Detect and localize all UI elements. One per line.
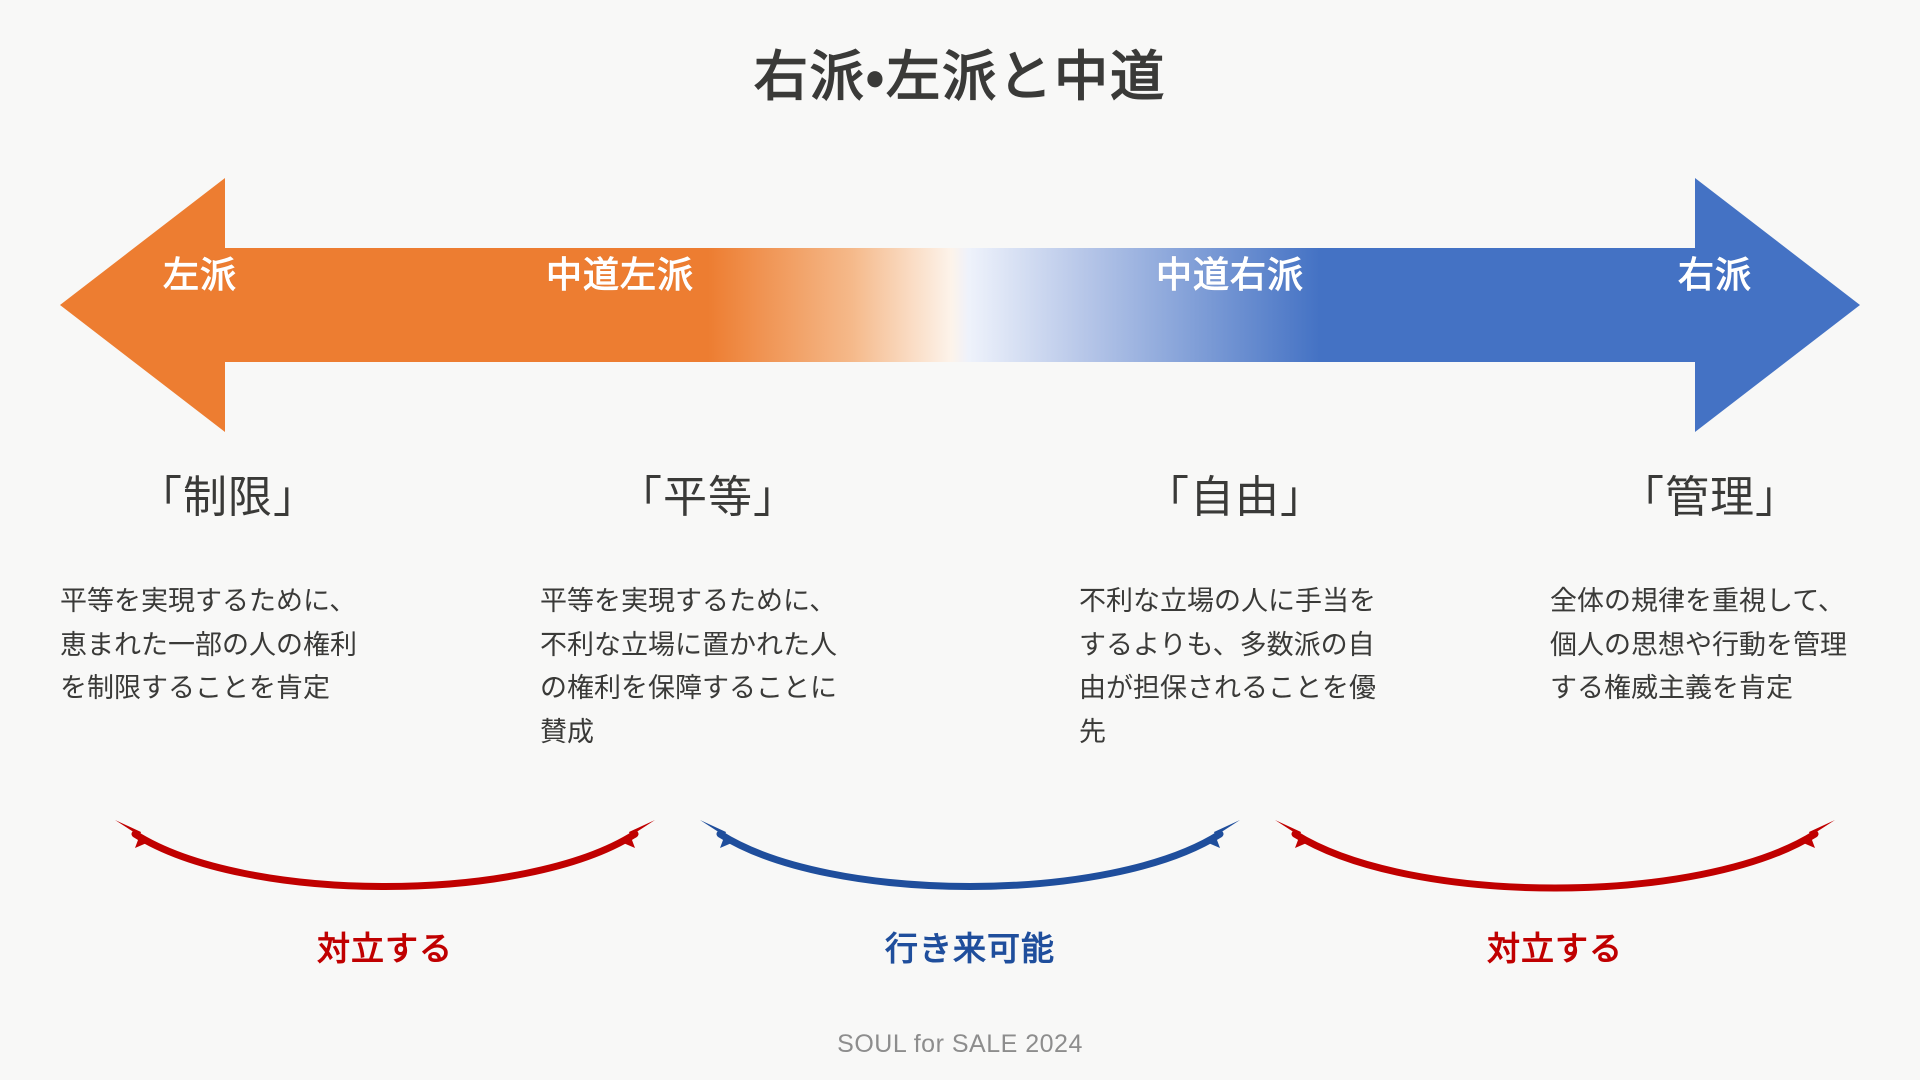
relation-label: 対立する: [1255, 922, 1855, 970]
column-body: 全体の規律を重視して、個人の思想や行動を管理する権威主義を肯定: [1550, 580, 1862, 711]
relation-flow-middle: 行き来可能: [680, 812, 1260, 1002]
political-spectrum-arrow: 左派 中道左派 中道右派 右派: [60, 170, 1860, 440]
relation-oppose-right: 対立する: [1255, 812, 1855, 1002]
page-title: 右派・左派と中道: [0, 46, 1920, 108]
relation-oppose-left: 対立する: [95, 812, 675, 1002]
footer-credit: SOUL for SALE 2024: [0, 1030, 1920, 1059]
relation-arrows: 対立する 行き来可能 対立する: [0, 812, 1920, 1002]
column-heading: 「平等」: [528, 470, 888, 562]
curved-double-arrow-icon: [95, 812, 675, 922]
spectrum-arrow-shape: [60, 170, 1860, 440]
column-byodo: 「平等」 平等を実現するために、不利な立場に置かれた人の権利を保障することに賛成: [528, 470, 888, 755]
column-body: 平等を実現するために、恵まれた一部の人の権利を制限することを肯定: [60, 580, 372, 711]
curved-double-arrow-icon: [680, 812, 1260, 922]
relation-label: 対立する: [95, 922, 675, 970]
column-body: 不利な立場の人に手当をするよりも、多数派の自由が担保されることを優先: [1079, 580, 1391, 755]
column-heading: 「制限」: [48, 470, 408, 562]
column-kanri: 「管理」 全体の規律を重視して、個人の思想や行動を管理する権威主義を肯定: [1530, 470, 1890, 711]
column-jiyu: 「自由」 不利な立場の人に手当をするよりも、多数派の自由が担保されることを優先: [1055, 470, 1415, 755]
column-body: 平等を実現するために、不利な立場に置かれた人の権利を保障することに賛成: [540, 580, 852, 755]
column-heading: 「管理」: [1530, 470, 1890, 562]
relation-label: 行き来可能: [680, 922, 1260, 970]
column-heading: 「自由」: [1055, 470, 1415, 562]
column-seigen: 「制限」 平等を実現するために、恵まれた一部の人の権利を制限することを肯定: [48, 470, 408, 711]
description-columns: 「制限」 平等を実現するために、恵まれた一部の人の権利を制限することを肯定 「平…: [0, 470, 1920, 830]
curved-double-arrow-icon: [1255, 812, 1855, 922]
diagram-canvas: 右派・左派と中道 左派 中道左派 中道右派: [0, 0, 1920, 1080]
